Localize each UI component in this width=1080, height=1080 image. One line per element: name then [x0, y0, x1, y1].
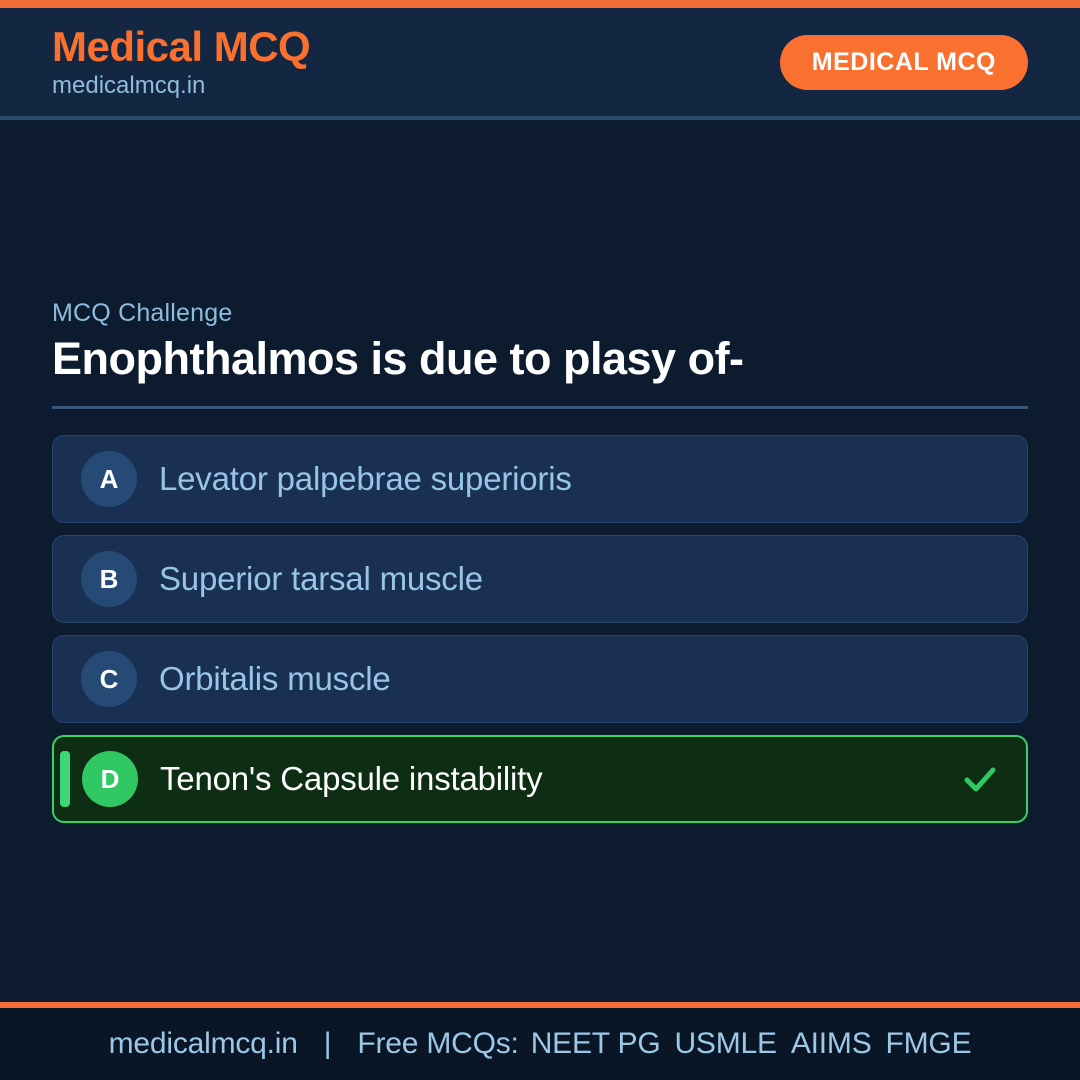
footer-exam-usmle[interactable]: USMLE — [674, 1027, 776, 1061]
footer-exam-neet-pg[interactable]: NEET PG — [531, 1027, 661, 1061]
question-divider — [52, 406, 1028, 409]
option-label: Orbitalis muscle — [159, 660, 1001, 698]
brand-block: Medical MCQ medicalmcq.in — [52, 26, 310, 98]
footer-content: medicalmcq.in | Free MCQs: NEET PG USMLE… — [109, 1027, 972, 1061]
mcq-card: Medical MCQ medicalmcq.in MEDICAL MCQ MC… — [0, 0, 1080, 1080]
option-letter-badge: A — [81, 451, 137, 507]
footer-exam-fmge[interactable]: FMGE — [886, 1027, 972, 1061]
header-badge: MEDICAL MCQ — [780, 35, 1028, 90]
question-kicker: MCQ Challenge — [52, 299, 1028, 328]
option-letter-badge: D — [82, 751, 138, 807]
correct-accent-bar — [60, 751, 70, 807]
check-icon — [960, 759, 1000, 799]
option-label: Levator palpebrae superioris — [159, 460, 1001, 498]
option-row-a[interactable]: A Levator palpebrae superioris — [52, 435, 1028, 523]
option-letter-badge: B — [81, 551, 137, 607]
option-row-c[interactable]: C Orbitalis muscle — [52, 635, 1028, 723]
footer-label: Free MCQs: — [357, 1027, 518, 1061]
footer-separator: | — [324, 1027, 332, 1061]
footer-exam-aiims[interactable]: AIIMS — [791, 1027, 872, 1061]
main-content: MCQ Challenge Enophthalmos is due to pla… — [0, 120, 1080, 1002]
option-letter-badge: C — [81, 651, 137, 707]
option-label: Tenon's Capsule instability — [160, 760, 960, 798]
top-accent-bar — [0, 0, 1080, 8]
option-row-b[interactable]: B Superior tarsal muscle — [52, 535, 1028, 623]
options-list: A Levator palpebrae superioris B Superio… — [52, 435, 1028, 823]
brand-subtitle: medicalmcq.in — [52, 74, 310, 98]
footer-site-link[interactable]: medicalmcq.in — [109, 1027, 298, 1061]
header: Medical MCQ medicalmcq.in MEDICAL MCQ — [0, 8, 1080, 120]
question-text: Enophthalmos is due to plasy of- — [52, 334, 1028, 384]
brand-title: Medical MCQ — [52, 26, 310, 68]
option-row-d[interactable]: D Tenon's Capsule instability — [52, 735, 1028, 823]
option-label: Superior tarsal muscle — [159, 560, 1001, 598]
footer: medicalmcq.in | Free MCQs: NEET PG USMLE… — [0, 1008, 1080, 1080]
question-block: MCQ Challenge Enophthalmos is due to pla… — [52, 299, 1028, 409]
